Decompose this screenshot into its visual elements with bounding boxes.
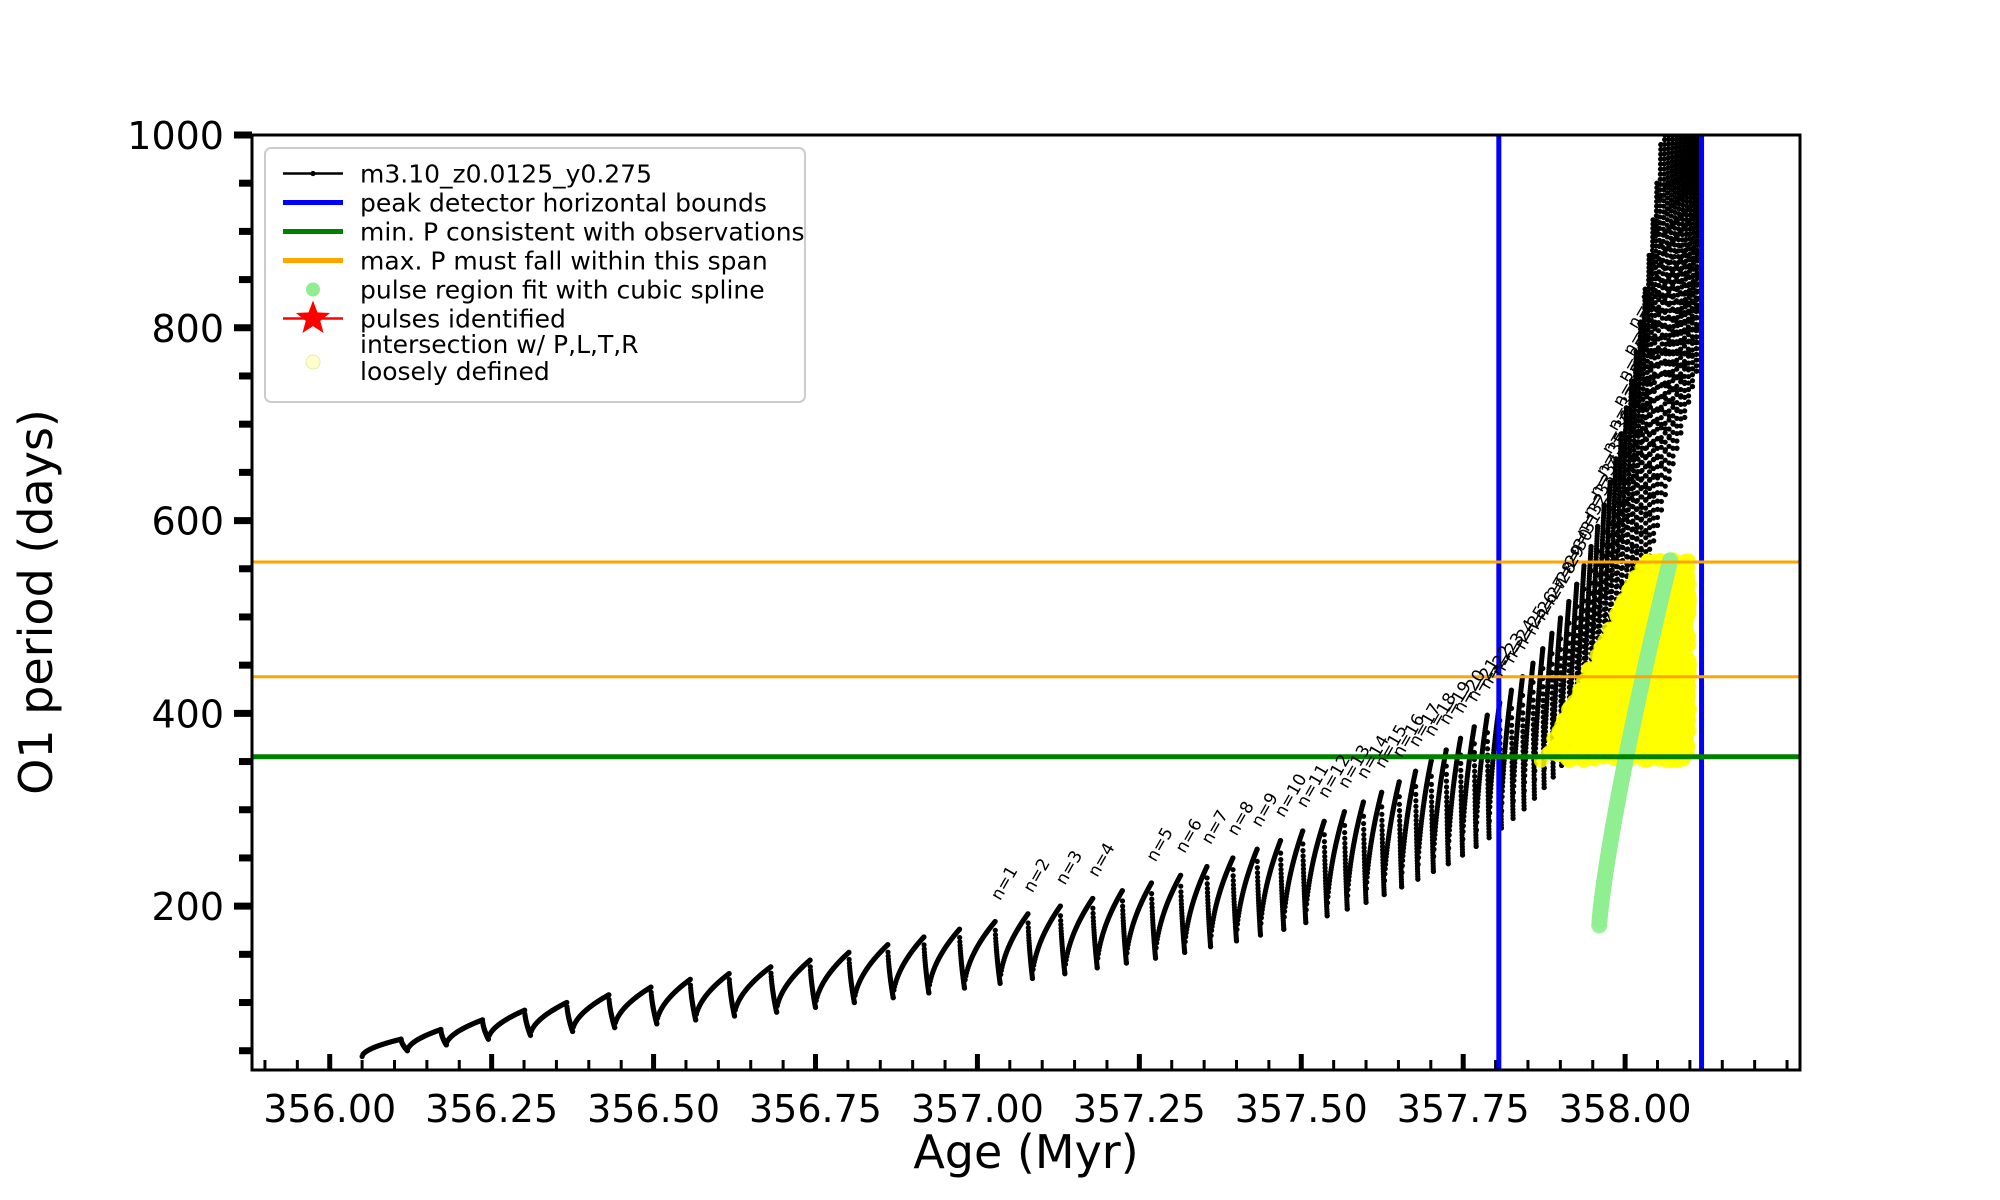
data-point xyxy=(612,1025,617,1030)
data-point xyxy=(957,927,962,932)
data-point xyxy=(1670,396,1675,401)
data-point xyxy=(1429,804,1434,809)
data-point xyxy=(1444,790,1449,795)
data-point xyxy=(1429,782,1434,787)
data-point xyxy=(1397,779,1402,784)
data-point xyxy=(1444,784,1449,789)
data-point xyxy=(1597,608,1602,613)
data-point xyxy=(1663,484,1668,489)
data-point xyxy=(1530,680,1535,685)
data-point xyxy=(1255,870,1260,875)
data-point xyxy=(1234,938,1239,943)
data-point xyxy=(1205,875,1210,880)
data-point xyxy=(1609,601,1614,606)
data-point xyxy=(1300,848,1305,853)
data-point xyxy=(1458,774,1463,779)
data-point xyxy=(1532,768,1537,773)
data-point xyxy=(1638,510,1643,515)
data-point xyxy=(1431,847,1436,852)
data-point xyxy=(1304,901,1309,906)
data-point xyxy=(1461,823,1466,828)
data-point xyxy=(1670,453,1675,458)
data-point xyxy=(1379,790,1384,795)
data-point xyxy=(1400,858,1405,863)
data-point xyxy=(1485,713,1490,718)
data-point xyxy=(693,1017,698,1022)
data-point xyxy=(1634,536,1639,541)
data-point xyxy=(1609,589,1614,594)
data-point xyxy=(1651,538,1656,543)
data-point xyxy=(1540,646,1545,651)
data-point xyxy=(1397,794,1402,799)
data-point xyxy=(1639,516,1644,521)
data-point xyxy=(1531,690,1536,695)
data-point xyxy=(1509,735,1514,740)
data-point xyxy=(1640,460,1645,465)
data-point xyxy=(1383,866,1388,871)
data-point xyxy=(648,985,653,990)
data-point xyxy=(1522,788,1527,793)
data-point xyxy=(1361,821,1366,826)
data-point xyxy=(1090,896,1095,901)
data-point xyxy=(1474,820,1479,825)
data-point xyxy=(1458,736,1463,741)
data-point xyxy=(1511,778,1516,783)
data-point xyxy=(1558,615,1563,620)
data-point xyxy=(1651,531,1656,536)
data-point xyxy=(1648,413,1653,418)
data-point xyxy=(1597,613,1602,618)
data-point xyxy=(1475,809,1480,814)
data-point xyxy=(1609,583,1614,588)
data-point xyxy=(1487,835,1492,840)
data-point xyxy=(1429,788,1434,793)
data-point xyxy=(852,1000,857,1005)
data-point xyxy=(1413,804,1418,809)
data-point xyxy=(1509,688,1514,693)
data-point xyxy=(1153,956,1158,961)
data-point xyxy=(1458,779,1463,784)
data-point xyxy=(1397,818,1402,823)
data-point xyxy=(1178,884,1183,889)
data-point xyxy=(1444,779,1449,784)
data-point xyxy=(1509,729,1514,734)
data-point xyxy=(1522,762,1527,767)
data-point xyxy=(1345,887,1350,892)
data-point xyxy=(1625,563,1630,568)
data-point xyxy=(1540,666,1545,671)
data-point xyxy=(1416,849,1421,854)
data-point xyxy=(1025,911,1030,916)
data-point xyxy=(1149,880,1154,885)
data-point xyxy=(1364,880,1369,885)
data-point xyxy=(1520,702,1525,707)
data-point xyxy=(1485,746,1490,751)
data-point xyxy=(1511,790,1516,795)
data-point xyxy=(1458,768,1463,773)
data-point xyxy=(1230,855,1235,860)
data-point xyxy=(1149,891,1154,896)
data-point xyxy=(1666,426,1671,431)
data-point xyxy=(1363,900,1368,905)
data-point xyxy=(1382,892,1387,897)
data-point xyxy=(1458,784,1463,789)
data-point xyxy=(1447,833,1452,838)
data-point xyxy=(1446,838,1451,843)
data-point xyxy=(921,934,926,939)
data-point xyxy=(1656,354,1661,359)
data-point xyxy=(962,985,967,990)
data-point xyxy=(1095,965,1100,970)
figure-container: n=1n=2n=3n=4n=5n=6n=7n=8n=9n=10n=11n=12n… xyxy=(0,0,2000,1200)
data-point xyxy=(1509,706,1514,711)
data-point xyxy=(1678,423,1683,428)
data-point xyxy=(1566,632,1571,637)
data-point xyxy=(1620,573,1625,578)
data-point xyxy=(1659,499,1664,504)
data-point xyxy=(1634,529,1639,534)
data-point xyxy=(1413,792,1418,797)
data-point xyxy=(1397,802,1402,807)
data-point xyxy=(1531,705,1536,710)
data-point xyxy=(1591,630,1596,635)
data-point xyxy=(1325,894,1330,899)
data-point xyxy=(1325,913,1330,918)
data-point xyxy=(1325,900,1330,905)
data-point xyxy=(1566,599,1571,604)
data-point xyxy=(1485,730,1490,735)
data-point xyxy=(732,1013,737,1018)
data-point xyxy=(1379,818,1384,823)
data-point xyxy=(1382,878,1387,883)
data-point xyxy=(1626,491,1631,496)
data-point xyxy=(1413,809,1418,814)
data-point xyxy=(1635,490,1640,495)
data-point xyxy=(1521,806,1526,811)
data-point xyxy=(1581,586,1586,591)
data-point xyxy=(1655,515,1660,520)
data-point xyxy=(1058,904,1063,909)
data-point xyxy=(1643,506,1648,511)
data-point xyxy=(1487,818,1492,823)
data-point xyxy=(654,1021,659,1026)
data-point xyxy=(1304,907,1309,912)
data-point xyxy=(1258,921,1263,926)
data-point xyxy=(1030,976,1035,981)
data-point xyxy=(1530,661,1535,666)
data-point xyxy=(1255,847,1260,852)
chart-canvas: n=1n=2n=3n=4n=5n=6n=7n=8n=9n=10n=11n=12n… xyxy=(0,0,2000,1200)
data-point xyxy=(1663,440,1668,445)
data-point xyxy=(1345,893,1350,898)
data-point xyxy=(1610,568,1615,573)
data-point xyxy=(1461,818,1466,823)
data-point xyxy=(1231,873,1236,878)
data-point xyxy=(1670,461,1675,466)
data-point xyxy=(1382,871,1387,876)
data-point xyxy=(1258,932,1263,937)
data-point xyxy=(1509,723,1514,728)
data-point xyxy=(1154,945,1159,950)
data-point xyxy=(1120,888,1125,893)
data-point xyxy=(1511,798,1516,803)
data-point xyxy=(1485,739,1490,744)
data-point xyxy=(1674,438,1679,443)
data-point xyxy=(1549,651,1554,656)
data-point xyxy=(1460,852,1465,857)
data-point xyxy=(1667,477,1672,482)
data-point xyxy=(1209,933,1214,938)
data-point xyxy=(1584,651,1589,656)
data-point xyxy=(1444,772,1449,777)
data-point xyxy=(1361,799,1366,804)
data-point xyxy=(1300,828,1305,833)
data-point xyxy=(993,919,998,924)
data-point xyxy=(1178,889,1183,894)
data-point xyxy=(1278,851,1283,856)
data-point xyxy=(1416,855,1421,860)
data-point xyxy=(1278,838,1283,843)
data-point xyxy=(1300,841,1305,846)
data-point xyxy=(807,958,812,963)
data-point xyxy=(1550,670,1555,675)
data-point xyxy=(1474,814,1479,819)
data-point xyxy=(926,990,931,995)
data-point xyxy=(1678,430,1683,435)
data-point xyxy=(1342,830,1347,835)
data-point xyxy=(1124,950,1129,955)
data-point xyxy=(1667,434,1672,439)
data-point xyxy=(1542,785,1547,790)
data-point xyxy=(885,942,890,947)
data-point xyxy=(1429,799,1434,804)
data-point xyxy=(1597,618,1602,623)
data-point xyxy=(1205,881,1210,886)
data-point xyxy=(1026,920,1031,925)
data-point xyxy=(1532,796,1537,801)
data-point xyxy=(1183,939,1188,944)
data-point xyxy=(570,1029,575,1034)
data-point xyxy=(1629,549,1634,554)
data-point xyxy=(1415,877,1420,882)
data-point xyxy=(1413,769,1418,774)
data-point xyxy=(1667,469,1672,474)
data-point xyxy=(1638,525,1643,530)
data-point xyxy=(1531,698,1536,703)
data-point xyxy=(993,928,998,933)
data-point xyxy=(726,971,731,976)
data-point xyxy=(1472,724,1477,729)
data-point xyxy=(1663,492,1668,497)
data-point xyxy=(1458,761,1463,766)
data-point xyxy=(1626,481,1631,486)
data-point xyxy=(1397,808,1402,813)
data-point xyxy=(1522,780,1527,785)
data-point xyxy=(1208,944,1213,949)
data-point xyxy=(1278,862,1283,867)
data-point xyxy=(1639,539,1644,544)
data-point xyxy=(1458,789,1463,794)
data-point xyxy=(1460,829,1465,834)
data-point xyxy=(1342,809,1347,814)
data-point xyxy=(1674,446,1679,451)
data-point xyxy=(1597,623,1602,628)
data-point xyxy=(1282,909,1287,914)
data-point xyxy=(1510,816,1515,821)
data-point xyxy=(1446,845,1451,850)
data-point xyxy=(1255,859,1260,864)
data-point xyxy=(1532,777,1537,782)
data-point xyxy=(1300,853,1305,858)
data-point xyxy=(1659,415,1664,420)
data-point xyxy=(1566,620,1571,625)
data-point xyxy=(1281,927,1286,932)
data-point xyxy=(1322,845,1327,850)
data-point xyxy=(1397,813,1402,818)
data-point xyxy=(1558,647,1563,652)
data-point xyxy=(1063,962,1068,967)
data-point xyxy=(1361,832,1366,837)
data-point xyxy=(1659,507,1664,512)
data-point xyxy=(1474,827,1479,832)
data-point xyxy=(1460,836,1465,841)
data-point xyxy=(1574,582,1579,587)
data-point xyxy=(1204,864,1209,869)
data-point xyxy=(1609,595,1614,600)
data-point xyxy=(1345,906,1350,911)
data-point xyxy=(688,977,693,982)
data-point xyxy=(1549,662,1554,667)
data-point xyxy=(1361,814,1366,819)
data-point xyxy=(1399,884,1404,889)
data-point xyxy=(1511,783,1516,788)
data-point xyxy=(1379,804,1384,809)
data-point xyxy=(1429,794,1434,799)
data-point xyxy=(1678,355,1683,360)
data-point xyxy=(891,995,896,1000)
data-point xyxy=(1540,684,1545,689)
data-point xyxy=(1591,635,1596,640)
data-point xyxy=(1400,863,1405,868)
data-point xyxy=(1625,554,1630,559)
data-point xyxy=(1413,798,1418,803)
data-point xyxy=(1124,960,1129,965)
data-point xyxy=(1597,629,1602,634)
data-point xyxy=(768,964,773,969)
data-point xyxy=(1472,763,1477,768)
data-point xyxy=(1364,886,1369,891)
data-point xyxy=(1634,544,1639,549)
data-point xyxy=(1656,328,1661,333)
data-point xyxy=(1278,857,1283,862)
data-point xyxy=(1178,873,1183,878)
data-point xyxy=(1303,920,1308,925)
data-point xyxy=(1432,841,1437,846)
data-point xyxy=(1234,927,1239,932)
data-point xyxy=(606,992,611,997)
data-point xyxy=(1472,769,1477,774)
data-point xyxy=(1655,523,1660,528)
data-point xyxy=(1558,656,1563,661)
data-point xyxy=(1090,906,1095,911)
data-point xyxy=(1361,827,1366,832)
data-point xyxy=(1230,867,1235,872)
data-point xyxy=(1659,454,1664,459)
data-point xyxy=(1603,601,1608,606)
data-point xyxy=(1322,839,1327,844)
data-point xyxy=(1472,779,1477,784)
data-point xyxy=(1589,568,1594,573)
data-point xyxy=(1282,914,1287,919)
data-point xyxy=(1512,773,1517,778)
data-point xyxy=(1647,512,1652,517)
data-point xyxy=(1416,862,1421,867)
data-point xyxy=(1120,898,1125,903)
data-point xyxy=(1558,636,1563,641)
data-point xyxy=(1413,784,1418,789)
data-point xyxy=(1149,897,1154,902)
data-point xyxy=(813,1005,818,1010)
data-point xyxy=(997,981,1002,986)
data-point xyxy=(1379,823,1384,828)
data-point xyxy=(1472,741,1477,746)
data-point xyxy=(1472,774,1477,779)
data-point xyxy=(1520,717,1525,722)
data-point xyxy=(1574,604,1579,609)
data-point xyxy=(1551,774,1556,779)
data-point xyxy=(1474,844,1479,849)
data-point xyxy=(1522,773,1527,778)
data-point xyxy=(1342,823,1347,828)
data-point xyxy=(1444,795,1449,800)
data-point xyxy=(1431,854,1436,859)
data-point xyxy=(1485,763,1490,768)
data-point xyxy=(1429,774,1434,779)
data-point xyxy=(1444,763,1449,768)
data-point xyxy=(1342,836,1347,841)
data-point xyxy=(1379,812,1384,817)
data-point xyxy=(1487,799,1492,804)
data-point xyxy=(1520,710,1525,715)
data-point xyxy=(1652,380,1657,385)
data-point xyxy=(1444,747,1449,752)
data-point xyxy=(1509,715,1514,720)
data-point xyxy=(1603,612,1608,617)
data-point xyxy=(1533,746,1538,751)
data-point xyxy=(774,1010,779,1015)
data-point xyxy=(1182,950,1187,955)
data-point xyxy=(1062,971,1067,976)
data-point xyxy=(1322,819,1327,824)
data-point xyxy=(1095,956,1100,961)
data-point xyxy=(1583,655,1588,660)
data-point xyxy=(1255,865,1260,870)
data-point xyxy=(1549,631,1554,636)
data-point xyxy=(1626,472,1631,477)
data-point xyxy=(1342,841,1347,846)
data-point xyxy=(1666,408,1671,413)
data-point xyxy=(1058,913,1063,918)
data-point xyxy=(1446,861,1451,866)
data-point xyxy=(1487,804,1492,809)
data-point xyxy=(1647,547,1652,552)
data-point xyxy=(1522,767,1527,772)
data-point xyxy=(1431,869,1436,874)
data-point xyxy=(1487,810,1492,815)
data-point xyxy=(1644,437,1649,442)
data-point xyxy=(1603,606,1608,611)
data-point xyxy=(1520,693,1525,698)
